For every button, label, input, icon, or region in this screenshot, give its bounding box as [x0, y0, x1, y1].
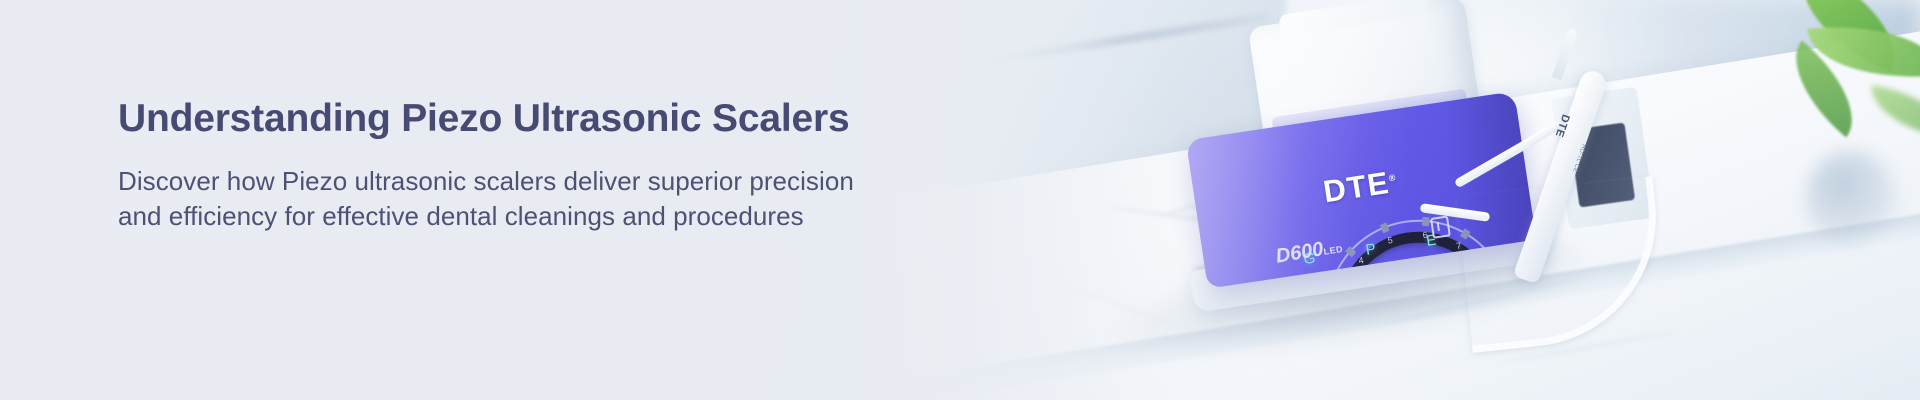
hero-copy: Understanding Piezo Ultrasonic Scalers D… — [118, 96, 854, 234]
page-subtitle-line-2: and efficiency for effective dental clea… — [118, 199, 854, 234]
power-button-icon[interactable] — [1430, 215, 1451, 238]
dial-tick-mark — [1422, 217, 1430, 227]
hero-banner: 12345678910 DTE® G P E D600LED DTE HD-7L… — [0, 0, 1920, 400]
mode-label-p: P — [1365, 241, 1377, 259]
page-title: Understanding Piezo Ultrasonic Scalers — [118, 96, 854, 142]
background-bokeh — [1806, 150, 1896, 246]
product-photo: 12345678910 DTE® G P E D600LED DTE HD-7L… — [860, 0, 1920, 400]
brand-registered-mark: ® — [1388, 172, 1398, 183]
model-suffix: LED — [1323, 244, 1344, 257]
page-subtitle: Discover how Piezo ultrasonic scalers de… — [118, 164, 854, 234]
page-subtitle-line-1: Discover how Piezo ultrasonic scalers de… — [118, 164, 854, 199]
